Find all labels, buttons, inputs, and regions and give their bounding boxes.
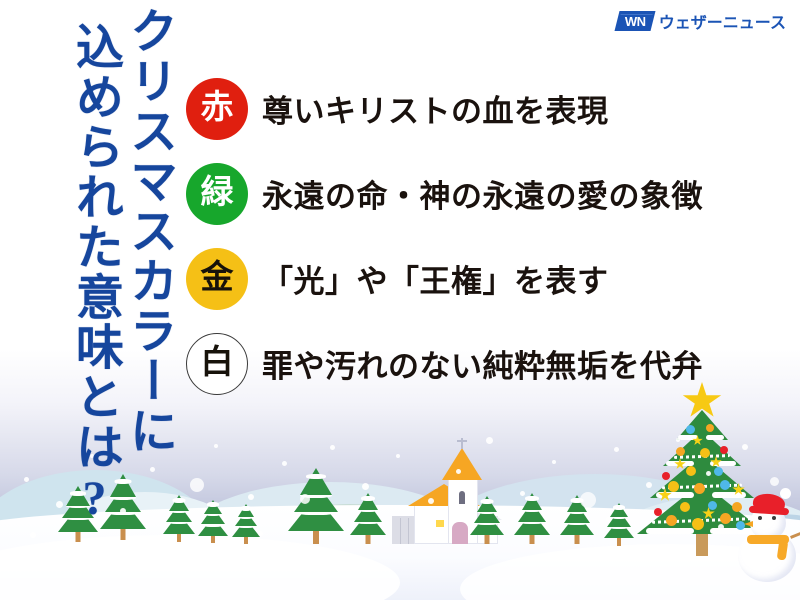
tree-ornament: [694, 483, 705, 494]
snowflake: [248, 494, 254, 500]
tree-ornament: [686, 425, 695, 434]
snowflake: [646, 482, 652, 488]
fir-tree: [604, 500, 634, 546]
snowman-nose-icon: [744, 521, 753, 527]
church-spire: [442, 448, 482, 480]
tree-ornament: [706, 424, 714, 432]
tree-snow: [706, 435, 724, 440]
tree-ornament: [708, 501, 717, 510]
tree-ornament: [666, 515, 677, 526]
snowflake: [456, 469, 461, 474]
fir-tree: [198, 497, 228, 543]
church-door: [452, 522, 468, 544]
church-tower-window: [459, 491, 465, 504]
tree-ornament: [662, 472, 670, 480]
wn-logo-icon: WN: [614, 11, 655, 31]
snowflake: [718, 524, 724, 530]
snowman-eye: [758, 516, 762, 520]
weathernews-logo[interactable]: WN ウェザーニュース: [617, 9, 786, 33]
row-description: 尊いキリストの血を表現: [262, 86, 609, 131]
title-column-left: 込められた意味とは?: [70, 22, 118, 527]
fir-tree: [470, 492, 504, 544]
snowflake: [770, 477, 779, 486]
snowflake: [362, 483, 369, 490]
snowflake: [190, 478, 204, 492]
snowflake: [742, 444, 748, 450]
fir-tree: [288, 456, 344, 544]
list-item: 緑 永遠の命・神の永遠の愛の象徴: [186, 151, 786, 236]
wn-logo-text: WN: [624, 14, 645, 29]
fir-tree: [514, 488, 550, 544]
tree-ornament: [680, 502, 690, 512]
snowflake: [428, 498, 434, 504]
tree-ornament: [686, 466, 696, 476]
snowflake: [520, 491, 525, 496]
badge-red: 赤: [186, 78, 248, 140]
badge-green: 緑: [186, 163, 248, 225]
slide-canvas: クリスマスカラーに 込められた意味とは? 赤 尊いキリストの血を表現 緑 永遠の…: [0, 0, 800, 600]
snowflake: [580, 492, 596, 508]
tree-ornament: [668, 481, 679, 492]
snowflake: [396, 454, 400, 458]
snowflake: [330, 445, 335, 450]
tree-ornament: [654, 508, 662, 516]
tree-snow: [646, 528, 694, 534]
snowflake: [606, 517, 611, 522]
fir-tree: [350, 488, 386, 544]
title-column-right: クリスマスカラーに: [124, 6, 172, 456]
tree-ornament: [720, 446, 728, 454]
church-cross: [457, 440, 467, 442]
list-item: 白 罪や汚れのない純粋無垢を代弁: [186, 321, 786, 406]
snowflake: [676, 438, 680, 442]
snowman-hat-pom: [780, 488, 791, 499]
tree-ornament: [720, 480, 730, 490]
snowflake: [706, 471, 711, 476]
snowflake: [486, 437, 493, 444]
snowflake: [214, 444, 218, 448]
brand-name: ウェザーニュース: [659, 9, 786, 33]
snowman: [736, 490, 800, 582]
tree-ornament: [676, 447, 685, 456]
tree-ornament: [720, 513, 731, 524]
row-description: 「光」や「王権」を表す: [262, 256, 609, 301]
tree-ornament: [714, 467, 723, 476]
tree-ornament: [700, 448, 710, 458]
snowflake: [258, 531, 263, 536]
church-annex-line: [408, 518, 409, 544]
fir-tree: [232, 502, 260, 544]
snowman-arm: [790, 530, 800, 539]
snowflake: [282, 461, 287, 466]
tree-ornament: [692, 518, 704, 530]
church-window: [436, 520, 444, 527]
row-description: 永遠の命・神の永遠の愛の象徴: [262, 171, 703, 216]
snowflake: [552, 460, 556, 464]
list-item: 赤 尊いキリストの血を表現: [186, 66, 786, 151]
color-meaning-list: 赤 尊いキリストの血を表現 緑 永遠の命・神の永遠の愛の象徴 金 「光」や「王権…: [186, 66, 786, 406]
snowflake: [614, 447, 619, 452]
list-item: 金 「光」や「王権」を表す: [186, 236, 786, 321]
church-annex-line: [400, 518, 401, 544]
snowflake: [300, 494, 310, 504]
badge-white: 白: [186, 333, 248, 395]
row-description: 罪や汚れのない純粋無垢を代弁: [262, 341, 703, 386]
badge-gold: 金: [186, 248, 248, 310]
page-title: クリスマスカラーに 込められた意味とは?: [0, 0, 180, 540]
snowman-eye: [772, 516, 776, 520]
